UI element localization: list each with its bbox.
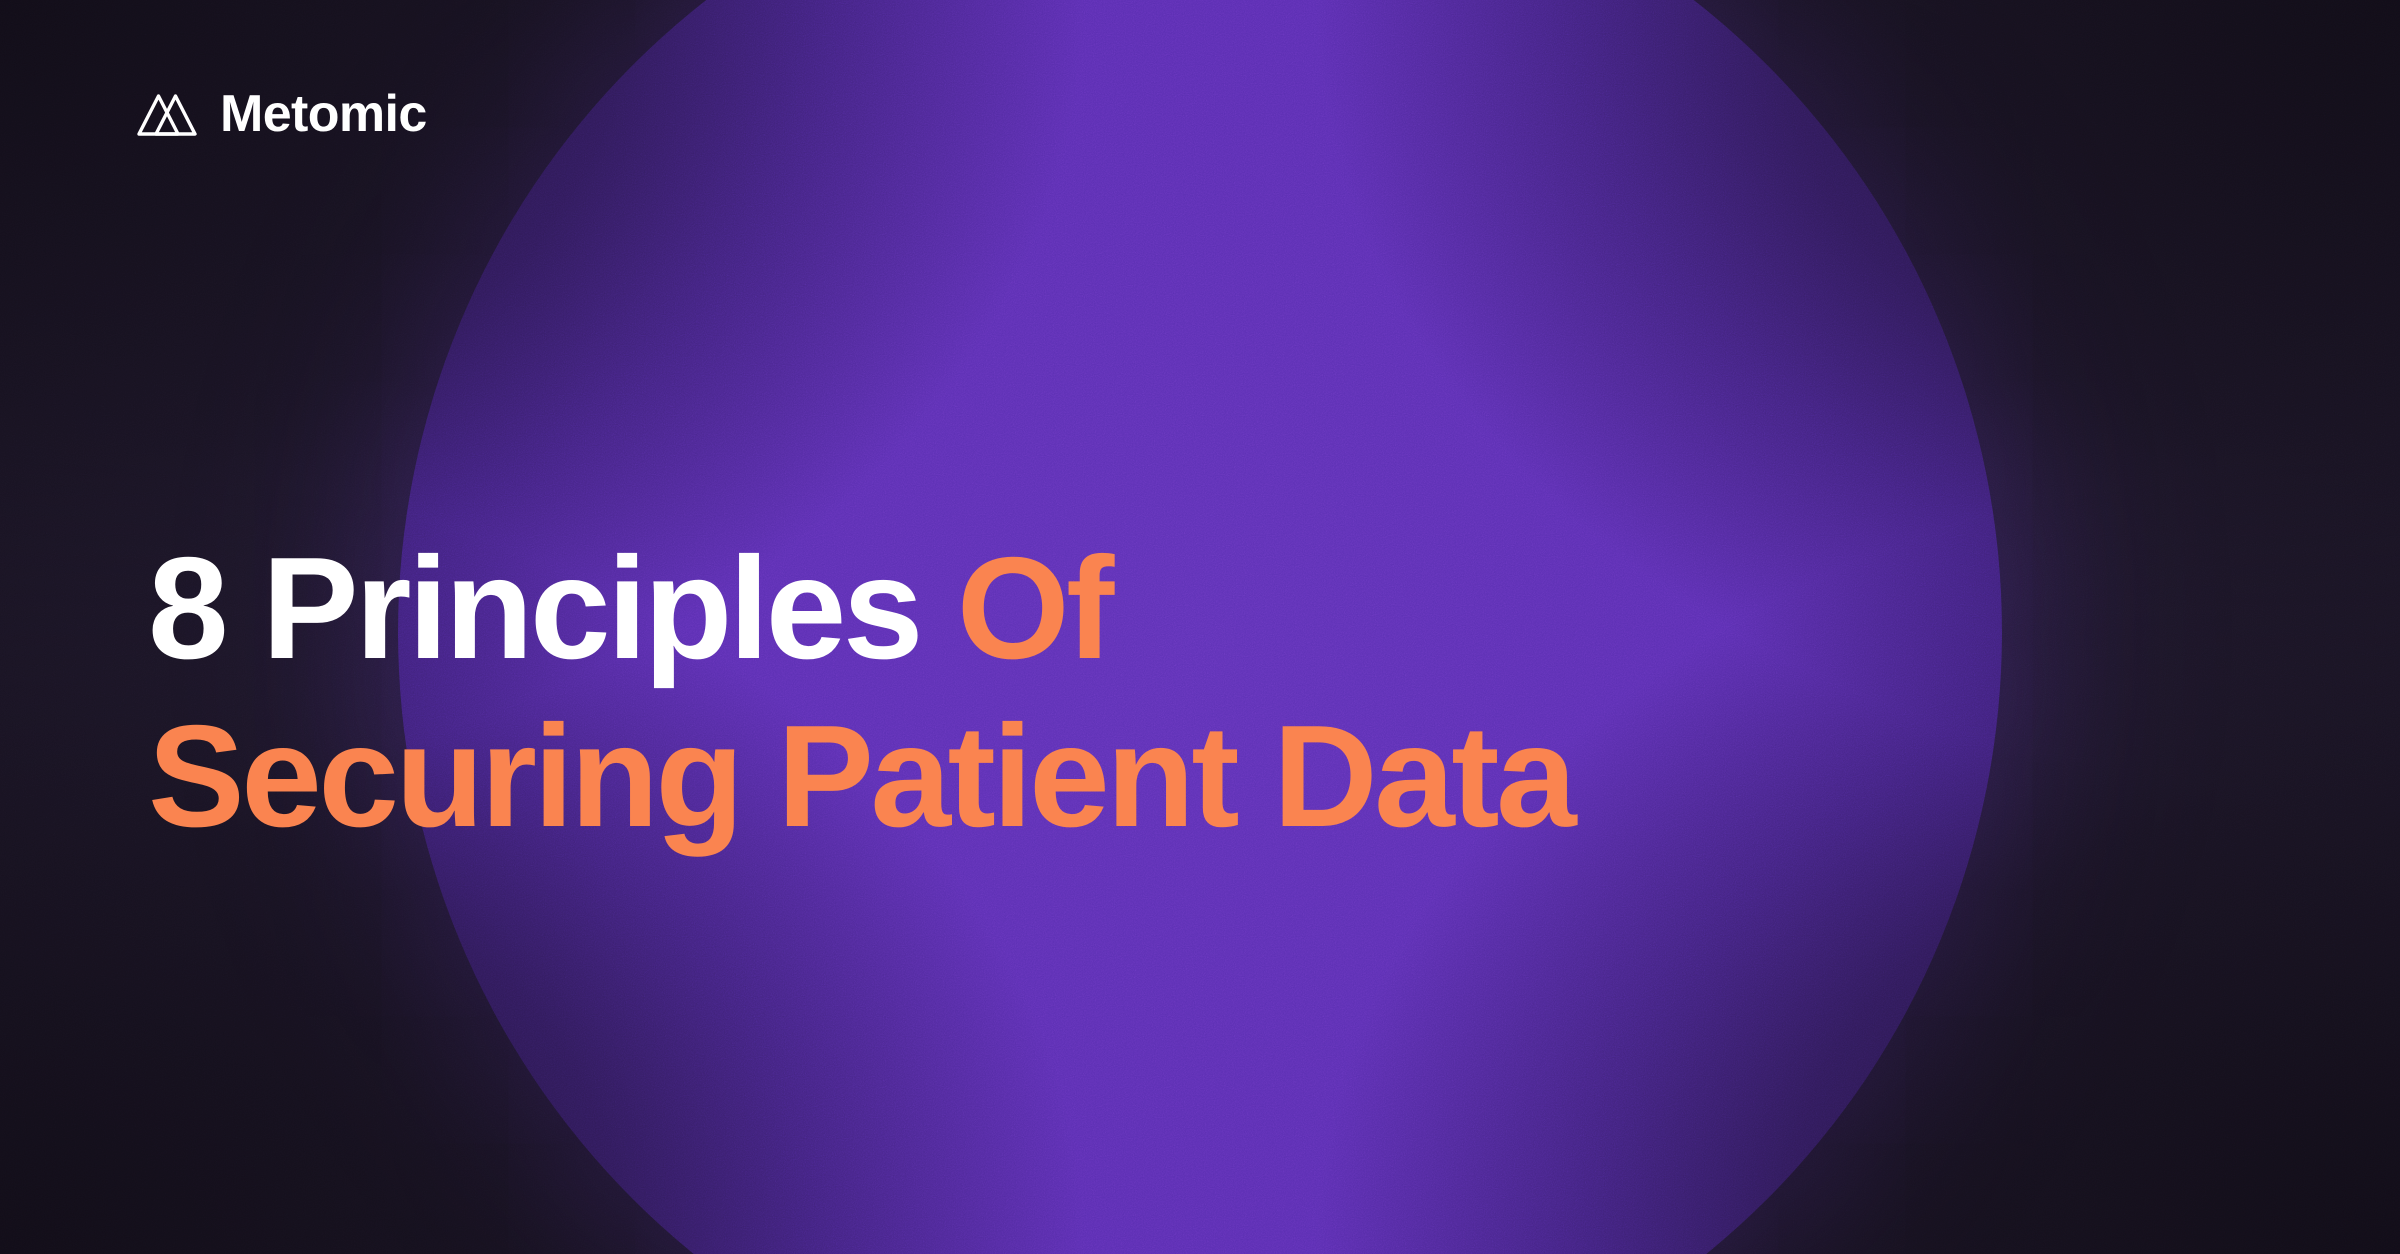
card-content: Metomic 8 Principles Of Securing Patient… bbox=[0, 0, 2400, 1254]
share-card-canvas: Metomic 8 Principles Of Securing Patient… bbox=[0, 0, 2400, 1254]
title-segment-1: 8 Principles bbox=[148, 527, 957, 689]
title-segment-3: Securing Patient Data bbox=[148, 695, 1573, 857]
brand-logo[interactable]: Metomic bbox=[136, 88, 427, 140]
title-segment-2: Of bbox=[957, 527, 1111, 689]
page-title: 8 Principles Of Securing Patient Data bbox=[148, 524, 2198, 860]
metomic-mountain-logo-icon bbox=[136, 91, 198, 137]
brand-name: Metomic bbox=[220, 88, 427, 140]
